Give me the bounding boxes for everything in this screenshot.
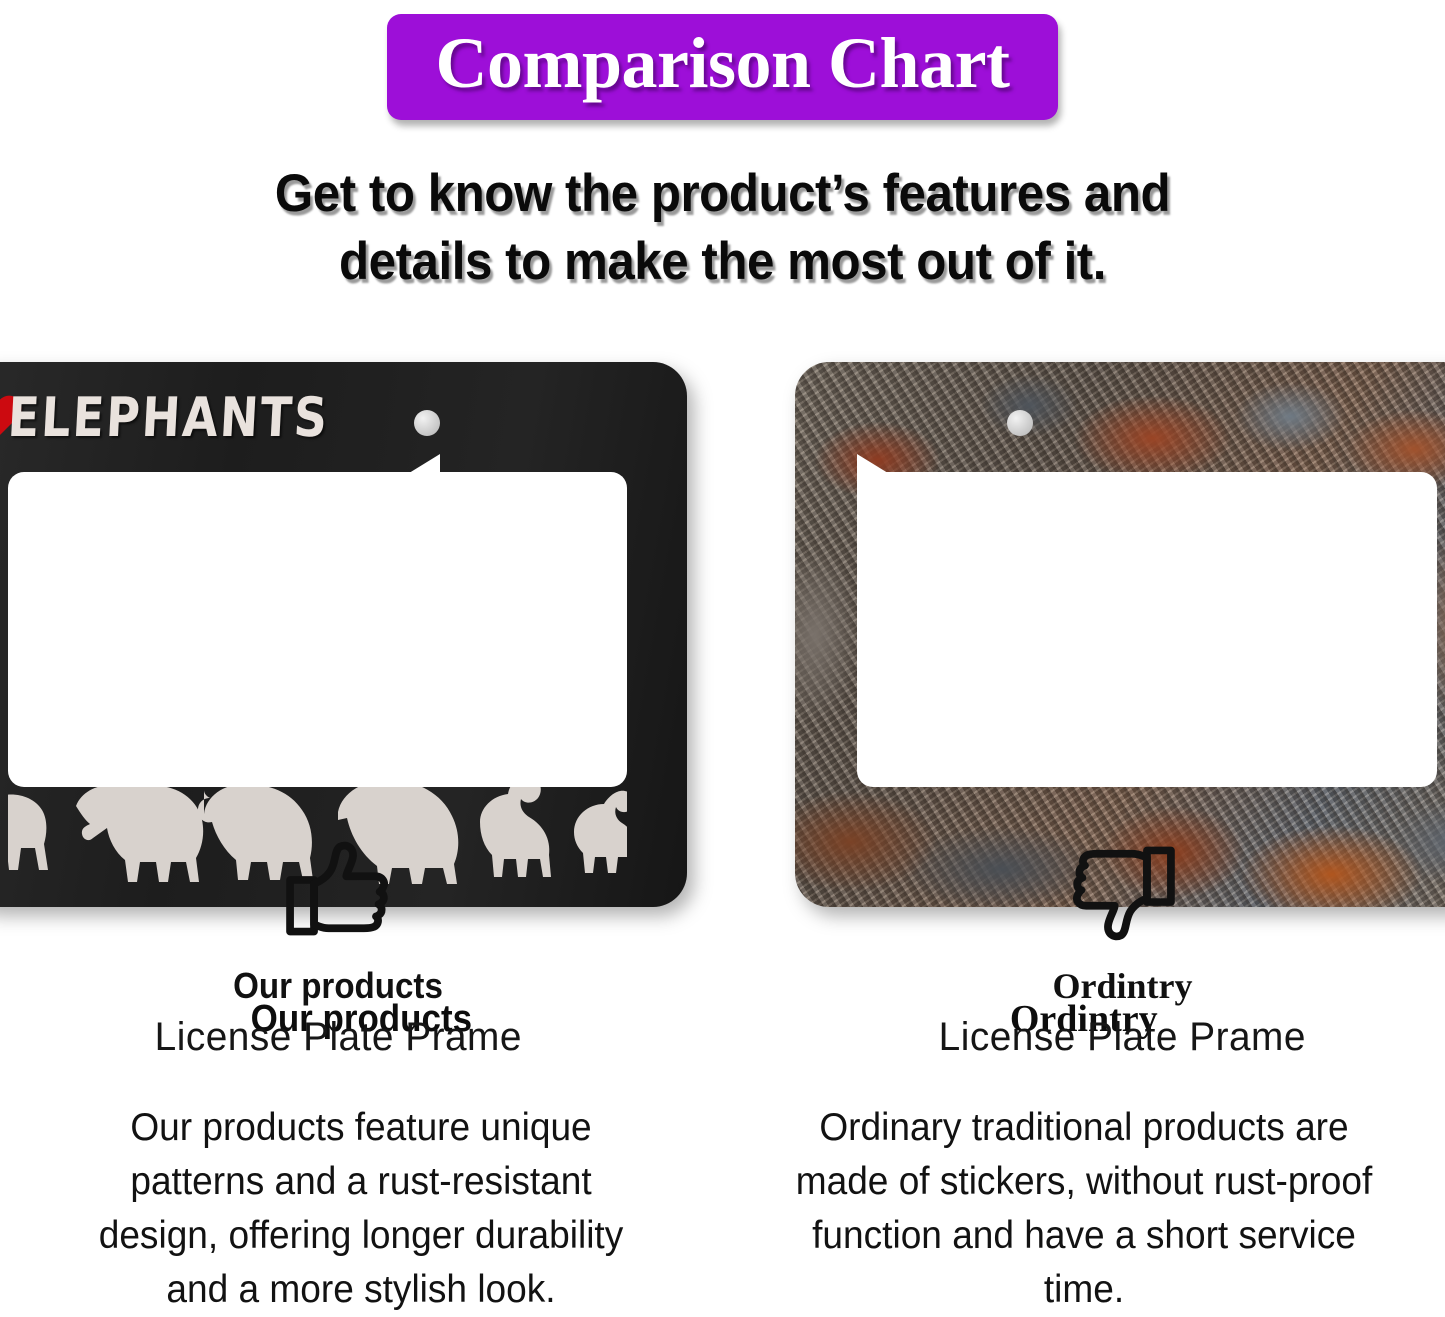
ours-inframe-title: Our products bbox=[233, 964, 443, 1008]
subtitle-line-1: Get to know the product’s features and bbox=[51, 160, 1395, 228]
ordinary-inframe-subtitle: License Plate Prame bbox=[939, 1008, 1306, 1066]
screw-hole-icon bbox=[414, 410, 440, 436]
plate-window-opening bbox=[8, 472, 627, 787]
plate-window-opening bbox=[857, 472, 1437, 787]
brand-line: ELEPHANTS bbox=[0, 390, 329, 444]
frame-body-rusted bbox=[795, 362, 1445, 907]
brand-word: ELEPHANTS bbox=[6, 385, 330, 449]
page-title: Comparison Chart bbox=[435, 20, 1009, 106]
title-banner: Comparison Chart bbox=[387, 14, 1057, 120]
thumbs-up-icon bbox=[279, 832, 397, 950]
frame-body-black: ELEPHANTS bbox=[0, 362, 687, 907]
product-frame-ordinary bbox=[795, 362, 1445, 907]
subtitle: Get to know the product’s features and d… bbox=[51, 160, 1395, 296]
frame-chamfer bbox=[362, 454, 440, 502]
ours-inframe-subtitle: License Plate Prame bbox=[154, 1008, 521, 1066]
title-banner-container: Comparison Chart bbox=[0, 14, 1445, 120]
ours-column-body: Our products feature unique patterns and… bbox=[67, 1101, 656, 1317]
frame-chamfer bbox=[857, 454, 935, 502]
comparison-frames: ELEPHANTS Our products License Plate Pra… bbox=[0, 352, 1445, 912]
thumbs-down-icon bbox=[1064, 832, 1182, 950]
ordinary-column-body: Ordinary traditional products are made o… bbox=[789, 1101, 1378, 1317]
screw-hole-icon bbox=[1007, 410, 1033, 436]
subtitle-line-2: details to make the most out of it. bbox=[51, 228, 1395, 296]
product-frame-ours: ELEPHANTS bbox=[0, 362, 687, 907]
ordinary-inframe-title: Ordintry bbox=[1053, 964, 1193, 1008]
